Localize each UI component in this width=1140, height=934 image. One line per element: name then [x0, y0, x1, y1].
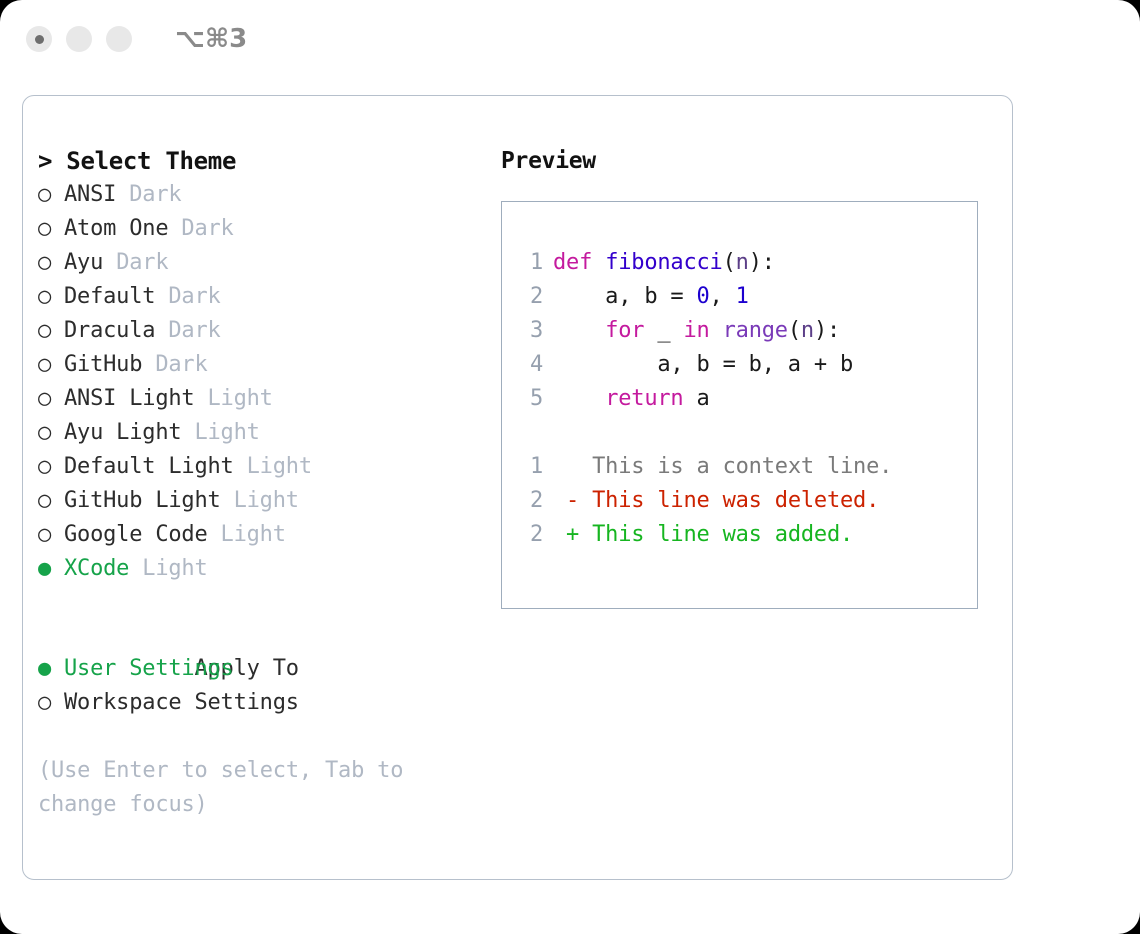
diff-line: 1 This is a context line. [513, 450, 973, 484]
theme-list-item[interactable]: ○Default Dark [38, 280, 488, 314]
code-token: for [605, 318, 644, 343]
radio-selected-icon: ● [38, 552, 64, 586]
theme-kind-label: Light [208, 386, 273, 411]
diff-sign: + [553, 522, 592, 547]
theme-name-label: GitHub [64, 352, 142, 377]
theme-name-label: Ayu Light [64, 420, 181, 445]
apply-to-option[interactable]: ○Workspace Settings [38, 686, 488, 720]
code-token: n [736, 250, 749, 275]
theme-name-label: Dracula [64, 318, 155, 343]
code-line: 3 for _ in range(n): [513, 314, 973, 348]
traffic-light-maximize[interactable] [106, 26, 132, 52]
theme-label-space [181, 420, 194, 445]
theme-label-space [168, 216, 181, 241]
radio-unselected-icon: ○ [38, 246, 64, 280]
theme-list: ○ANSI Dark○Atom One Dark○Ayu Dark○Defaul… [38, 178, 488, 586]
syntax-sample-lines: 1def fibonacci(n):2 a, b = 0, 13 for _ i… [513, 246, 973, 416]
window-titlebar: ⌥⌘3 [0, 0, 1140, 78]
theme-list-item[interactable]: ○Atom One Dark [38, 212, 488, 246]
code-token: n [801, 318, 814, 343]
theme-list-item[interactable]: ●XCode Light [38, 552, 488, 586]
theme-name-label: ANSI [64, 182, 116, 207]
theme-label-space [155, 318, 168, 343]
theme-list-item[interactable]: ○GitHub Dark [38, 348, 488, 382]
code-token [592, 250, 605, 275]
theme-selection-column: > Select Theme ○ANSI Dark○Atom One Dark○… [38, 144, 488, 822]
code-line-number: 4 [513, 348, 543, 382]
theme-label-space [234, 454, 247, 479]
theme-kind-label: Dark [168, 284, 220, 309]
code-token: 0 [697, 284, 710, 309]
code-token: _ [644, 318, 683, 343]
theme-list-item[interactable]: ○Google Code Light [38, 518, 488, 552]
code-token: , [710, 284, 736, 309]
theme-label-space [221, 488, 234, 513]
radio-unselected-icon: ○ [38, 416, 64, 450]
theme-name-label: Google Code [64, 522, 208, 547]
theme-label-space [142, 352, 155, 377]
radio-unselected-icon: ○ [38, 450, 64, 484]
radio-unselected-icon: ○ [38, 686, 64, 720]
diff-sample-lines: 1 This is a context line.2 - This line w… [513, 450, 973, 552]
code-line-number: 2 [513, 280, 543, 314]
code-line: 2 a, b = 0, 1 [513, 280, 973, 314]
diff-line: 2 - This line was deleted. [513, 484, 973, 518]
code-line: 1def fibonacci(n): [513, 246, 973, 280]
code-token: a, b = b, a + b [553, 352, 853, 377]
theme-name-label: Ayu [64, 250, 103, 275]
theme-label-space [129, 556, 142, 581]
code-token: fibonacci [605, 250, 722, 275]
code-line: 5 return a [513, 382, 973, 416]
keyboard-hint-text: (Use Enter to select, Tab to change focu… [38, 754, 443, 822]
code-preview-area: 1def fibonacci(n):2 a, b = 0, 13 for _ i… [513, 246, 973, 552]
radio-unselected-icon: ○ [38, 348, 64, 382]
radio-selected-icon: ● [38, 652, 64, 686]
content-panel: > Select Theme ○ANSI Dark○Atom One Dark○… [22, 95, 1013, 880]
theme-name-label: GitHub Light [64, 488, 221, 513]
code-token [553, 318, 605, 343]
diff-line-number: 1 [513, 450, 543, 484]
radio-unselected-icon: ○ [38, 178, 64, 212]
code-token: range [723, 318, 788, 343]
select-theme-heading: > Select Theme [38, 144, 488, 178]
theme-list-item[interactable]: ○ANSI Dark [38, 178, 488, 212]
theme-label-space [155, 284, 168, 309]
apply-to-heading: Apply To [38, 618, 488, 652]
theme-kind-label: Light [194, 420, 259, 445]
theme-label-space [194, 386, 207, 411]
diff-line-number: 2 [513, 484, 543, 518]
theme-name-label: Default Light [64, 454, 234, 479]
theme-kind-label: Dark [155, 352, 207, 377]
diff-text: This line was deleted. [592, 488, 879, 513]
code-token: ): [749, 250, 775, 275]
preview-heading: Preview [501, 144, 1001, 178]
radio-unselected-icon: ○ [38, 314, 64, 348]
radio-unselected-icon: ○ [38, 518, 64, 552]
theme-list-item[interactable]: ○Ayu Light Light [38, 416, 488, 450]
radio-unselected-icon: ○ [38, 212, 64, 246]
theme-list-item[interactable]: ○GitHub Light Light [38, 484, 488, 518]
diff-line: 2 + This line was added. [513, 518, 973, 552]
theme-name-label: Default [64, 284, 155, 309]
code-token: a [683, 386, 709, 411]
code-line-number: 3 [513, 314, 543, 348]
radio-unselected-icon: ○ [38, 280, 64, 314]
code-token: a, b = [553, 284, 697, 309]
code-token: 1 [736, 284, 749, 309]
code-token: ( [788, 318, 801, 343]
diff-text: This line was added. [592, 522, 853, 547]
diff-sign: - [553, 488, 592, 513]
theme-name-label: ANSI Light [64, 386, 194, 411]
code-token: in [683, 318, 709, 343]
keyboard-shortcut-label: ⌥⌘3 [175, 26, 247, 52]
theme-list-item[interactable]: ○ANSI Light Light [38, 382, 488, 416]
preview-column: Preview 1def fibonacci(n):2 a, b = 0, 13… [501, 144, 1001, 609]
theme-kind-label: Dark [129, 182, 181, 207]
theme-kind-label: Dark [116, 250, 168, 275]
traffic-light-minimize[interactable] [66, 26, 92, 52]
theme-name-label: XCode [64, 556, 129, 581]
code-token: return [605, 386, 683, 411]
apply-to-option-label: Workspace Settings [64, 690, 299, 715]
diff-text: This is a context line. [592, 454, 892, 479]
code-token [553, 386, 605, 411]
radio-unselected-icon: ○ [38, 484, 64, 518]
theme-label-space [103, 250, 116, 275]
theme-name-label: Atom One [64, 216, 168, 241]
theme-kind-label: Light [247, 454, 312, 479]
diff-sign [553, 454, 592, 479]
theme-kind-label: Dark [168, 318, 220, 343]
code-token: ): [814, 318, 840, 343]
theme-kind-label: Light [221, 522, 286, 547]
code-line-number: 1 [513, 246, 543, 280]
theme-label-space [208, 522, 221, 547]
theme-label-space [116, 182, 129, 207]
theme-kind-label: Light [142, 556, 207, 581]
code-token: ( [723, 250, 736, 275]
preview-box: 1def fibonacci(n):2 a, b = 0, 13 for _ i… [501, 201, 978, 609]
theme-kind-label: Light [234, 488, 299, 513]
theme-list-item[interactable]: ○Ayu Dark [38, 246, 488, 280]
apply-to-option-label: User Settings [64, 656, 234, 681]
code-token: def [553, 250, 592, 275]
traffic-light-close-dot [35, 35, 44, 44]
code-line-number: 5 [513, 382, 543, 416]
theme-list-item[interactable]: ○Dracula Dark [38, 314, 488, 348]
radio-unselected-icon: ○ [38, 382, 64, 416]
app-window: ⌥⌘3 > Select Theme ○ANSI Dark○Atom One D… [0, 0, 1140, 934]
code-line: 4 a, b = b, a + b [513, 348, 973, 382]
theme-kind-label: Dark [181, 216, 233, 241]
traffic-light-close[interactable] [26, 26, 52, 52]
theme-list-item[interactable]: ○Default Light Light [38, 450, 488, 484]
code-token [710, 318, 723, 343]
diff-line-number: 2 [513, 518, 543, 552]
